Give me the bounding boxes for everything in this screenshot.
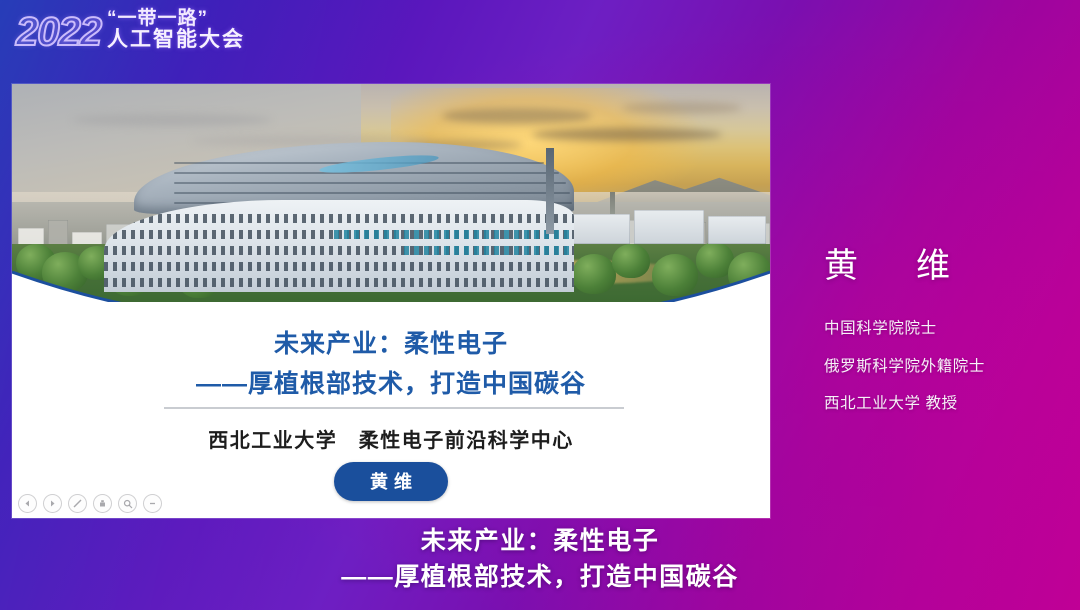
search-icon[interactable] [118,494,137,513]
cloud-icon [72,114,272,126]
divider-rule [164,407,624,409]
slide-title: 未来产业：柔性电子 [12,324,770,360]
cloud-icon [532,128,722,141]
logo-year-text: 2022 [16,6,101,52]
roof-stripe [174,182,566,184]
facade-glass [334,230,574,239]
pen-icon[interactable] [68,494,87,513]
building-block [708,216,766,244]
logo-chinese-text: “一带一路” 人工智能大会 [107,7,245,51]
speaker-name-badge: 黄维 [334,462,448,501]
logo-line-ai-conference: 人工智能大会 [107,29,245,51]
campus-photograph [12,84,770,302]
speaker-info-panel: 黄 维 中国科学院院士 俄罗斯科学院外籍院士 西北工业大学 教授 [812,238,1068,434]
speaker-title-1: 中国科学院院士 [824,321,1068,337]
stamp-icon[interactable] [93,494,112,513]
facade-floor [104,214,574,223]
cloud-icon [442,108,592,124]
speaker-title-2: 俄罗斯科学院外籍院士 [824,359,1068,375]
previous-icon[interactable] [18,494,37,513]
play-icon[interactable] [43,494,62,513]
caption-line-1: 未来产业：柔性电子 [0,524,1080,560]
facade-glass [404,246,574,255]
slide-text-area: 未来产业：柔性电子 ——厚植根部技术，打造中国碳谷 西北工业大学 柔性电子前沿科… [12,302,770,518]
slide-subtitle: ——厚植根部技术，打造中国碳谷 [12,364,770,400]
player-toolbar[interactable] [18,494,162,513]
conference-logo: 2022 “一带一路” 人工智能大会 [16,6,245,52]
caption-line-2: ——厚植根部技术，打造中国碳谷 [0,560,1080,596]
logo-line-belt-and-road: “一带一路” [107,9,245,29]
wave-divider [12,270,770,302]
building-block [634,210,704,244]
cloud-icon [622,102,742,114]
conference-broadcast-screen: 2022 “一带一路” 人工智能大会 [0,0,1080,610]
lower-third-caption: 未来产业：柔性电子 ——厚植根部技术，打造中国碳谷 [0,524,1080,595]
roof-stripe [174,192,570,194]
building-block [572,214,630,244]
roof-stripe [174,172,559,174]
slide-organization: 西北工业大学 柔性电子前沿科学中心 [12,424,770,453]
minus-icon[interactable] [143,494,162,513]
antenna-tower [546,148,554,234]
presentation-slide[interactable]: 未来产业：柔性电子 ——厚植根部技术，打造中国碳谷 西北工业大学 柔性电子前沿科… [12,84,770,518]
speaker-title-3: 西北工业大学 教授 [824,396,1068,412]
speaker-name: 黄 维 [824,238,1068,287]
